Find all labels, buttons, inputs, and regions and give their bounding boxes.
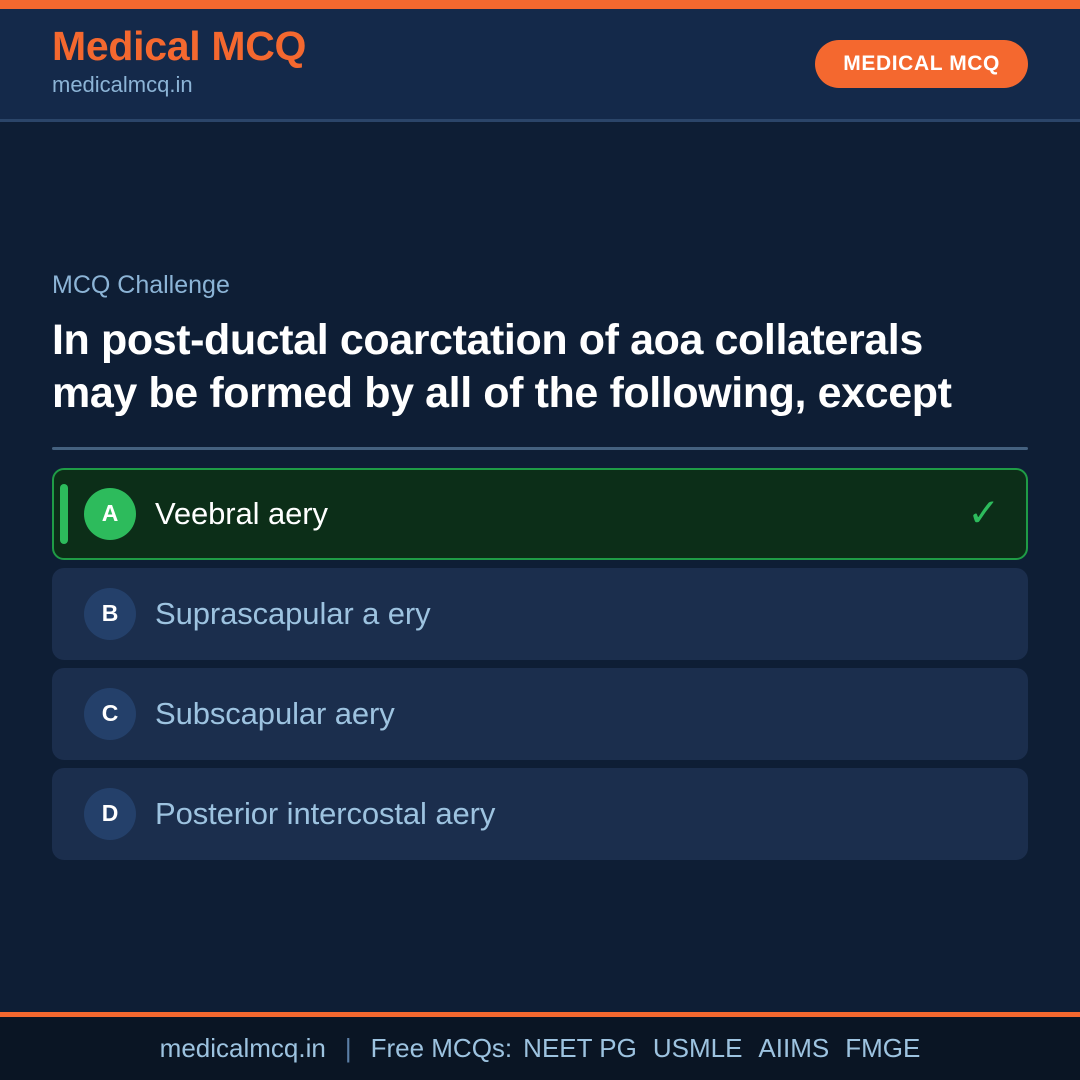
correct-accent-bar: [60, 484, 68, 544]
option-label-d: Posterior intercostal aery: [155, 795, 495, 832]
footer-bar: medicalmcq.in | Free MCQs: NEET PG USMLE…: [0, 1012, 1080, 1080]
kicker-label: MCQ Challenge: [52, 270, 1028, 300]
footer-exam-usmle: USMLE: [653, 1033, 743, 1064]
brand-subtitle: medicalmcq.in: [52, 70, 306, 100]
header-badge: MEDICAL MCQ: [815, 40, 1028, 88]
option-row-c[interactable]: C Subscapular aery: [52, 668, 1028, 760]
option-badge-a: A: [84, 488, 136, 540]
checkmark-icon: ✓: [967, 494, 1000, 533]
footer-exam-neet-pg: NEET PG: [523, 1033, 637, 1064]
options-list: A Veebral aery ✓ B Suprascapular a ery C…: [52, 468, 1028, 860]
option-label-c: Subscapular aery: [155, 695, 395, 732]
footer-content: medicalmcq.in | Free MCQs: NEET PG USMLE…: [160, 1033, 921, 1064]
option-row-b[interactable]: B Suprascapular a ery: [52, 568, 1028, 660]
header-bar: Medical MCQ medicalmcq.in MEDICAL MCQ: [0, 9, 1080, 122]
mcq-card: Medical MCQ medicalmcq.in MEDICAL MCQ MC…: [0, 0, 1080, 1080]
footer-exam-list: NEET PG USMLE AIIMS FMGE: [523, 1033, 920, 1064]
footer-separator: |: [337, 1033, 360, 1064]
option-badge-d: D: [84, 788, 136, 840]
brand-title: Medical MCQ: [52, 24, 306, 68]
footer-exam-aiims: AIIMS: [758, 1033, 829, 1064]
footer-site: medicalmcq.in: [160, 1033, 326, 1064]
question-divider: [52, 447, 1028, 450]
option-label-b: Suprascapular a ery: [155, 595, 431, 632]
option-row-d[interactable]: D Posterior intercostal aery: [52, 768, 1028, 860]
brand-block: Medical MCQ medicalmcq.in: [52, 24, 306, 100]
option-badge-b: B: [84, 588, 136, 640]
footer-exam-fmge: FMGE: [845, 1033, 920, 1064]
main-content: MCQ Challenge In post-ductal coarctation…: [0, 122, 1080, 1012]
option-row-a[interactable]: A Veebral aery ✓: [52, 468, 1028, 560]
option-badge-c: C: [84, 688, 136, 740]
footer-exams-label: Free MCQs:: [371, 1033, 513, 1064]
option-label-a: Veebral aery: [155, 495, 328, 532]
top-accent-strip: [0, 0, 1080, 9]
question-text: In post-ductal coarctation of aoa collat…: [52, 314, 1012, 420]
